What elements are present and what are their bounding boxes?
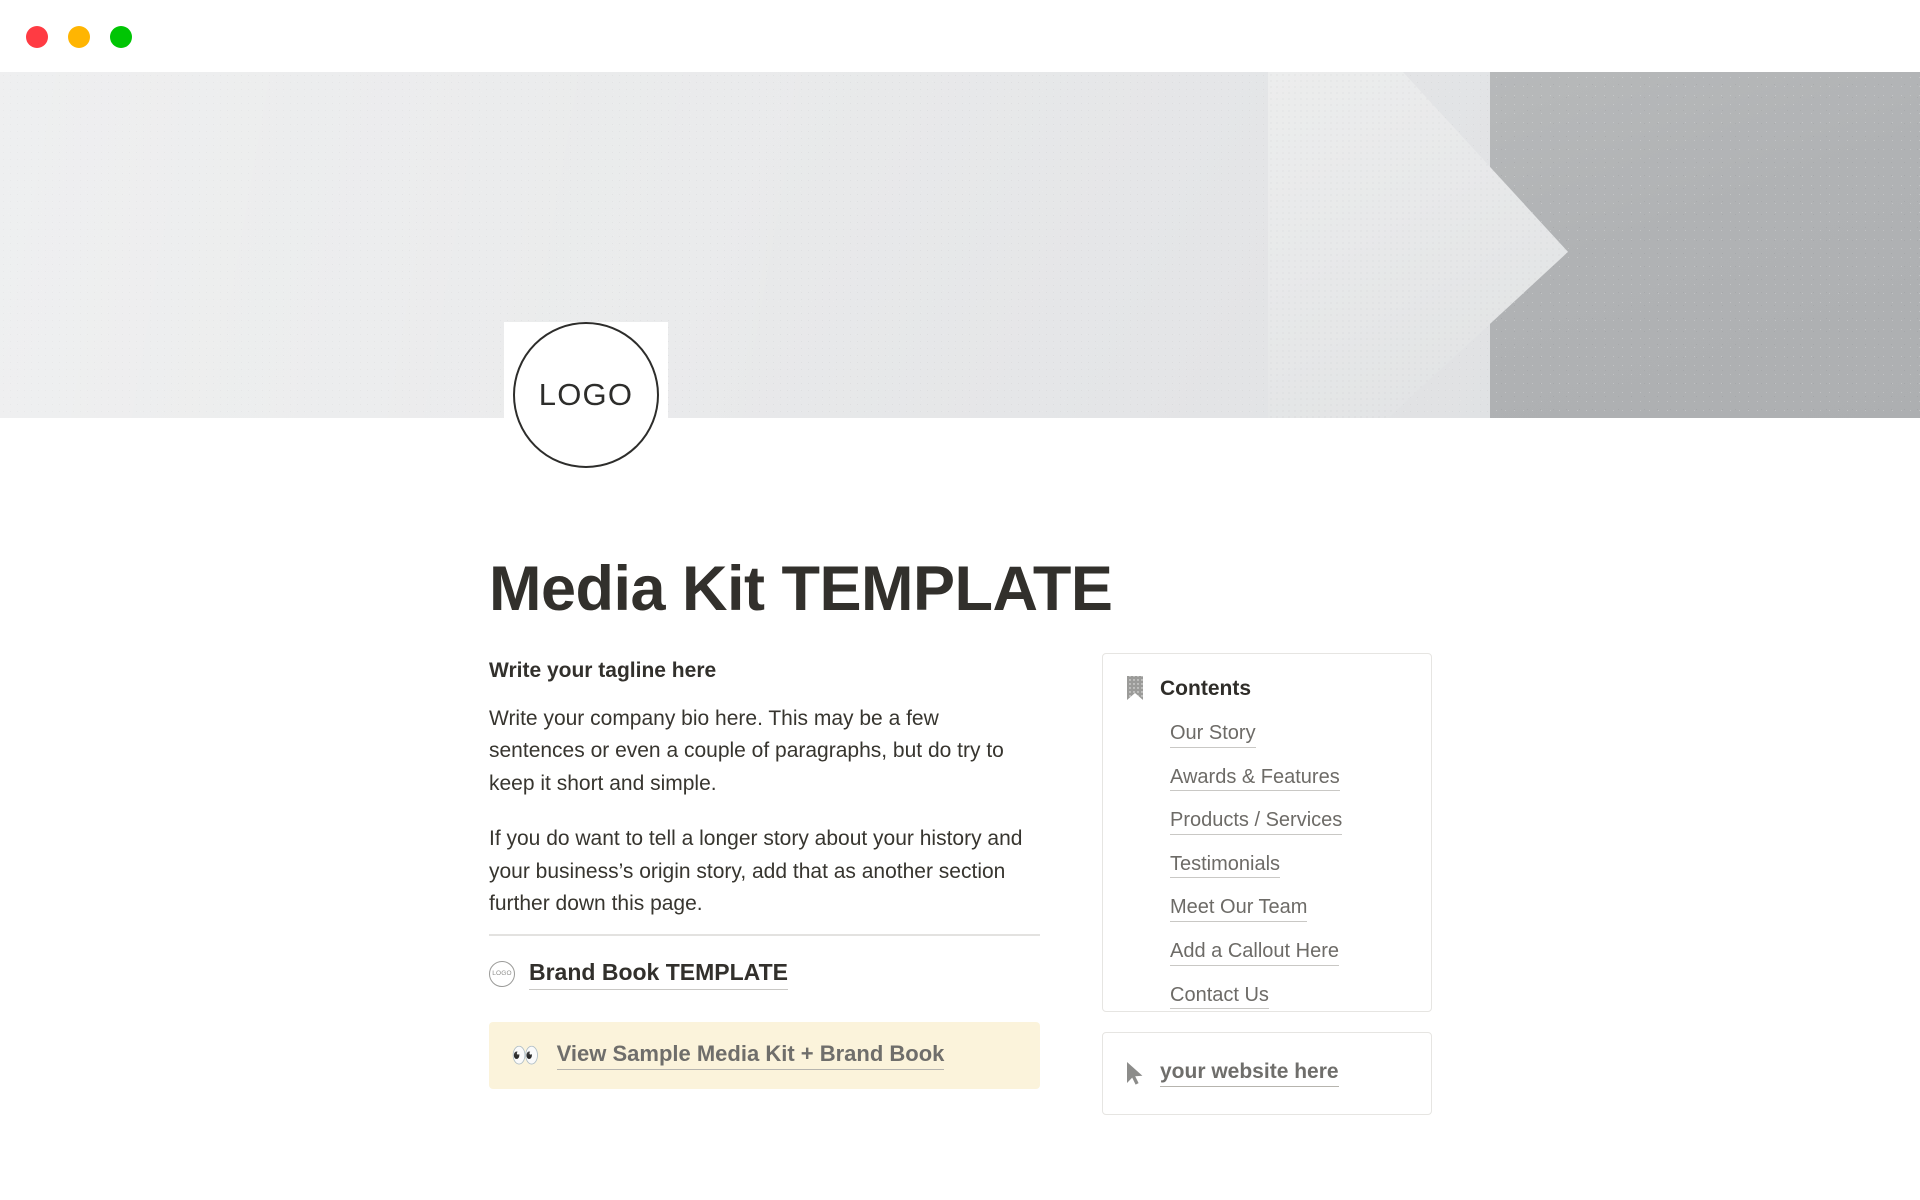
close-window-button[interactable] [26,26,48,48]
page-title: Media Kit TEMPLATE [489,553,1112,625]
list-item[interactable]: Testimonials [1170,853,1420,879]
logo-text: LOGO [539,377,633,413]
cursor-pointer-icon [1125,1061,1145,1086]
list-item[interactable]: Awards & Features [1170,766,1420,792]
list-item[interactable]: Add a Callout Here [1170,940,1420,966]
mini-logo-text: LOGO [492,971,512,978]
minimize-window-button[interactable] [68,26,90,48]
list-item[interactable]: Products / Services [1170,809,1420,835]
eyes-emoji-icon: 👀 [511,1044,540,1067]
website-link[interactable]: your website here [1160,1059,1339,1087]
contents-link-awards-features[interactable]: Awards & Features [1170,766,1340,792]
website-card: your website here [1102,1032,1432,1115]
maximize-window-button[interactable] [110,26,132,48]
list-item[interactable]: Meet Our Team [1170,896,1420,922]
brand-book-link-row[interactable]: LOGO Brand Book TEMPLATE [489,958,1040,990]
mini-logo-icon: LOGO [489,961,515,987]
contents-link-products-services[interactable]: Products / Services [1170,809,1342,835]
tagline-heading: Write your tagline here [489,655,1040,687]
contents-card: Contents Our Story Awards & Features Pro… [1102,653,1432,1012]
window-titlebar [0,0,1920,72]
contents-link-testimonials[interactable]: Testimonials [1170,853,1280,879]
list-item[interactable]: Our Story [1170,722,1420,748]
bookmark-icon [1125,675,1145,701]
contents-card-header: Contents [1125,675,1251,701]
contents-link-our-story[interactable]: Our Story [1170,722,1256,748]
contents-title: Contents [1160,678,1251,699]
bio-paragraph-1: Write your company bio here. This may be… [489,703,1040,801]
website-card-row[interactable]: your website here [1125,1059,1339,1087]
logo-placeholder-icon[interactable]: LOGO [513,322,659,468]
sample-callout-box[interactable]: 👀 View Sample Media Kit + Brand Book [489,1022,1040,1089]
traffic-light-group [26,26,132,48]
cover-banner-image[interactable] [0,72,1920,418]
left-content-column: Write your tagline here Write your compa… [489,655,1040,990]
list-item[interactable]: Contact Us [1170,984,1420,1010]
bio-paragraph-2: If you do want to tell a longer story ab… [489,823,1040,921]
contents-link-contact-us[interactable]: Contact Us [1170,984,1269,1010]
contents-link-meet-our-team[interactable]: Meet Our Team [1170,896,1307,922]
section-divider [489,934,1040,936]
contents-list: Our Story Awards & Features Products / S… [1170,722,1420,1009]
view-sample-link[interactable]: View Sample Media Kit + Brand Book [557,1041,945,1070]
contents-link-add-a-callout-here[interactable]: Add a Callout Here [1170,940,1339,966]
brand-book-link-label[interactable]: Brand Book TEMPLATE [529,958,788,990]
